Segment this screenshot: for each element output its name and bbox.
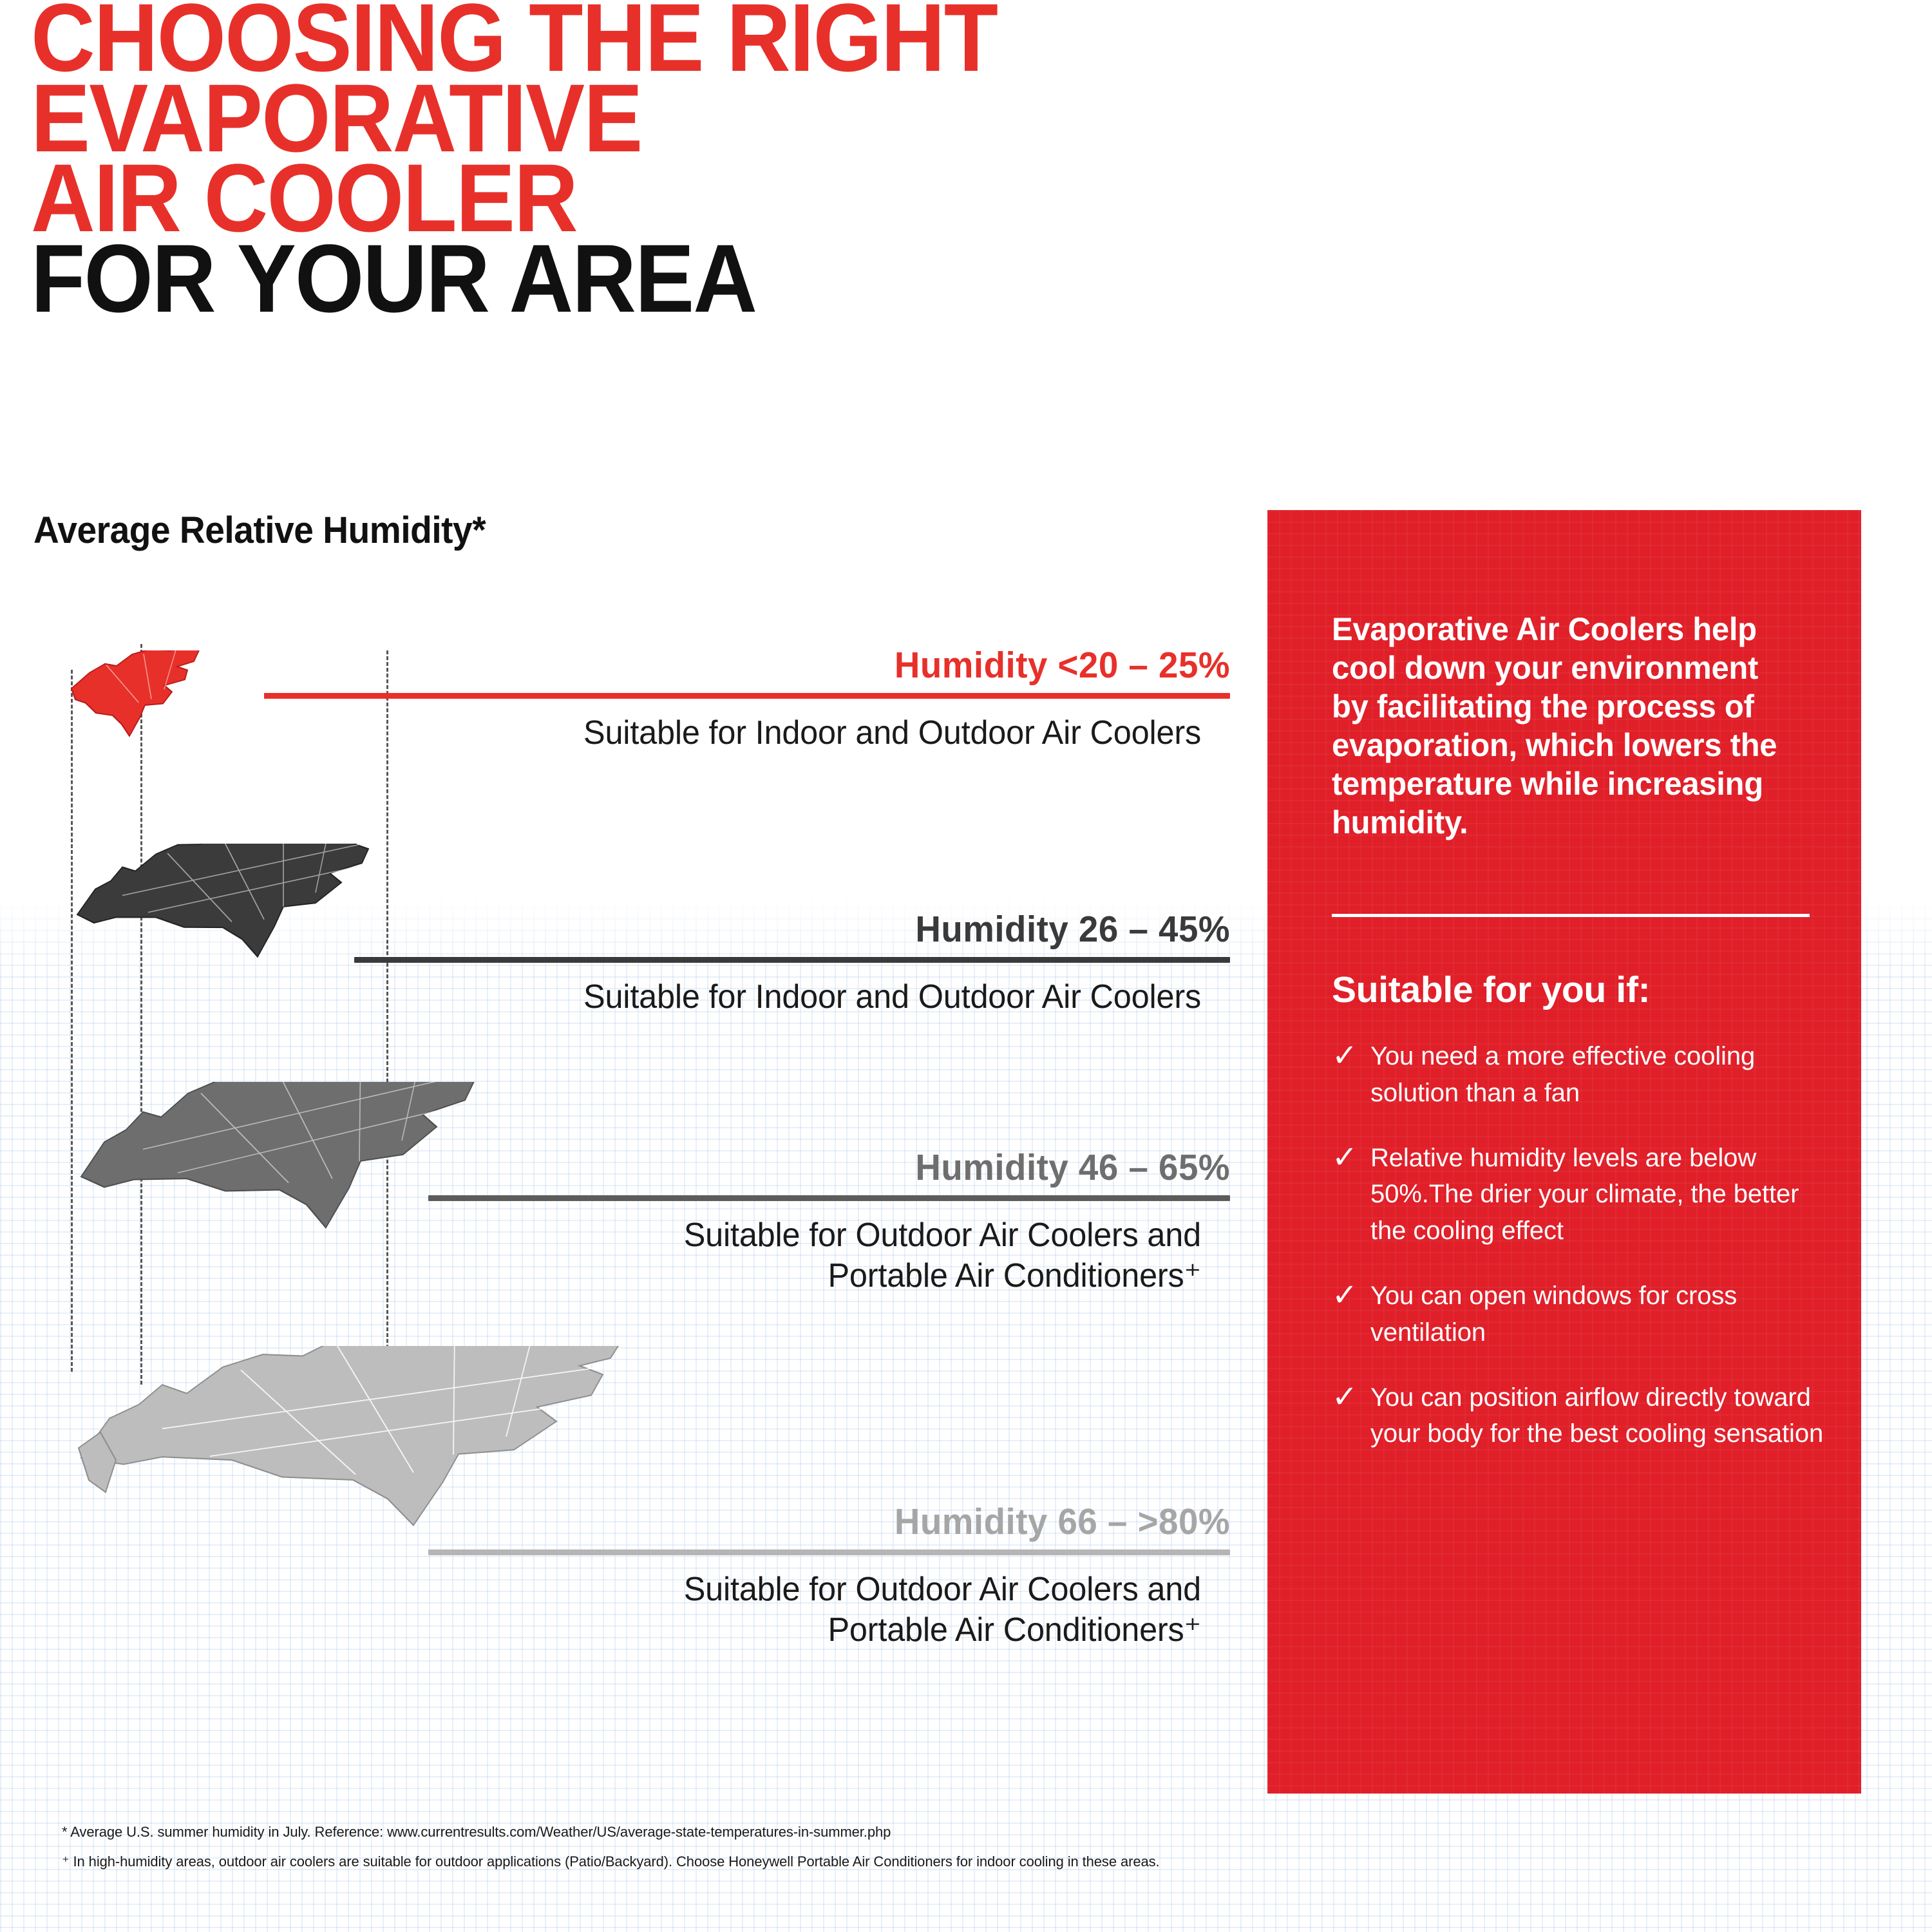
humidity-rule-3 [428, 1195, 1230, 1201]
panel-divider [1332, 914, 1810, 917]
humidity-description-1: Suitable for Indoor and Outdoor Air Cool… [264, 713, 1201, 753]
list-item: ✓ You need a more effective cooling solu… [1332, 1038, 1841, 1112]
footnote-1: * Average U.S. summer humidity in July. … [62, 1824, 1543, 1841]
humidity-description-2: Suitable for Indoor and Outdoor Air Cool… [264, 977, 1201, 1018]
humidity-rule-1 [264, 693, 1230, 699]
panel-suitable-title: Suitable for you if: [1332, 969, 1650, 1011]
humidity-label-2: Humidity 26 – 45% [303, 908, 1230, 951]
humidity-description-4: Suitable for Outdoor Air Coolers and Por… [264, 1569, 1201, 1651]
list-item: ✓ Relative humidity levels are below 50%… [1332, 1140, 1841, 1249]
bullet-text: You can open windows for cross ventilati… [1370, 1278, 1841, 1351]
title-line-4: FOR YOUR AREA [31, 238, 1157, 319]
humidity-row-2: Humidity 26 – 45% Suitable for Indoor an… [264, 908, 1230, 1018]
footnotes: * Average U.S. summer humidity in July. … [62, 1824, 1543, 1884]
humidity-rule-2 [354, 957, 1230, 963]
section-subtitle: Average Relative Humidity* [33, 509, 486, 552]
info-panel: Evaporative Air Coolers help cool down y… [1267, 510, 1861, 1794]
bullet-text: You can position airflow directly toward… [1370, 1379, 1841, 1453]
list-item: ✓ You can position airflow directly towa… [1332, 1379, 1841, 1453]
page-title: CHOOSING THE RIGHT EVAPORATIVE AIR COOLE… [31, 0, 1255, 318]
humidity-description-3: Suitable for Outdoor Air Coolers and Por… [264, 1215, 1201, 1297]
humidity-label-3: Humidity 46 – 65% [303, 1146, 1230, 1189]
humidity-row-4: Humidity 66 – >80% Suitable for Outdoor … [264, 1501, 1230, 1651]
list-item: ✓ You can open windows for cross ventila… [1332, 1278, 1841, 1351]
humidity-label-4: Humidity 66 – >80% [303, 1501, 1230, 1543]
panel-intro-text: Evaporative Air Coolers help cool down y… [1332, 610, 1799, 842]
footnote-2: ⁺ In high-humidity areas, outdoor air co… [62, 1853, 1543, 1870]
panel-bullet-list: ✓ You need a more effective cooling solu… [1332, 1038, 1841, 1481]
check-icon: ✓ [1332, 1038, 1370, 1074]
humidity-rule-4 [428, 1549, 1230, 1555]
humidity-label-1: Humidity <20 – 25% [303, 644, 1230, 687]
us-map-layer-arid [68, 650, 216, 766]
check-icon: ✓ [1332, 1379, 1370, 1416]
humidity-row-1: Humidity <20 – 25% Suitable for Indoor a… [264, 644, 1230, 753]
check-icon: ✓ [1332, 1140, 1370, 1176]
bullet-text: Relative humidity levels are below 50%.T… [1370, 1140, 1841, 1249]
humidity-row-3: Humidity 46 – 65% Suitable for Outdoor A… [264, 1146, 1230, 1297]
bullet-text: You need a more effective cooling soluti… [1370, 1038, 1841, 1112]
check-icon: ✓ [1332, 1278, 1370, 1314]
